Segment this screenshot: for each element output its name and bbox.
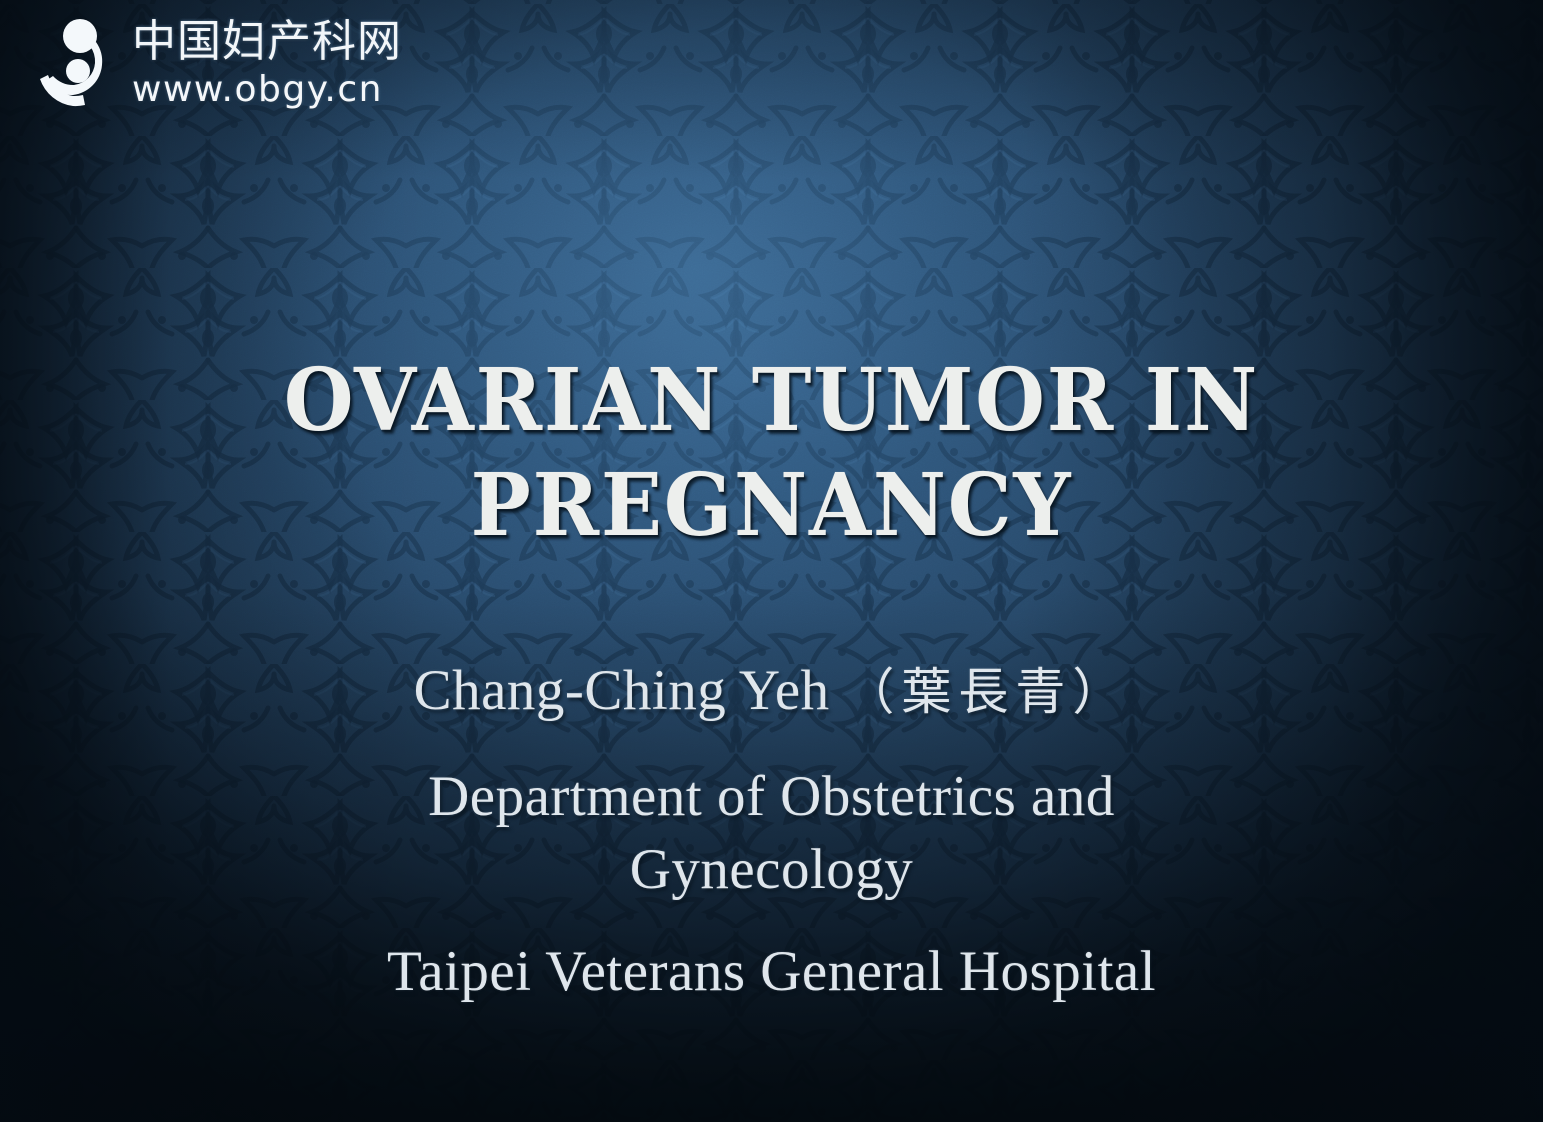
watermark-site-name: 中国妇产科网	[132, 20, 402, 64]
title-slide: 中国妇产科网 www.obgy.cn OVARIAN TUMOR IN PREG…	[0, 0, 1543, 1122]
author-line: Chang-Ching Yeh （葉長青）	[70, 655, 1473, 727]
mother-and-child-logo-icon	[34, 16, 118, 112]
slide-title-line-1: OVARIAN TUMOR IN	[138, 352, 1406, 451]
institution-line: Taipei Veterans General Hospital	[70, 936, 1473, 1008]
watermark-text-group: 中国妇产科网 www.obgy.cn	[132, 20, 402, 108]
watermark-site-url: www.obgy.cn	[132, 72, 402, 108]
site-watermark: 中国妇产科网 www.obgy.cn	[34, 16, 402, 112]
slide-title-line-2: PREGNANCY	[138, 457, 1406, 556]
slide-content: OVARIAN TUMOR IN PREGNANCY Chang-Ching Y…	[0, 0, 1543, 1122]
author-name-cjk: （葉長青）	[844, 663, 1129, 721]
department-line: Department of Obstetrics and Gynecology	[292, 761, 1252, 906]
slide-subtitle-group: Chang-Ching Yeh （葉長青） Department of Obst…	[0, 655, 1543, 1009]
author-name-latin: Chang-Ching Yeh	[414, 659, 830, 722]
slide-title: OVARIAN TUMOR IN PREGNANCY	[0, 352, 1543, 556]
